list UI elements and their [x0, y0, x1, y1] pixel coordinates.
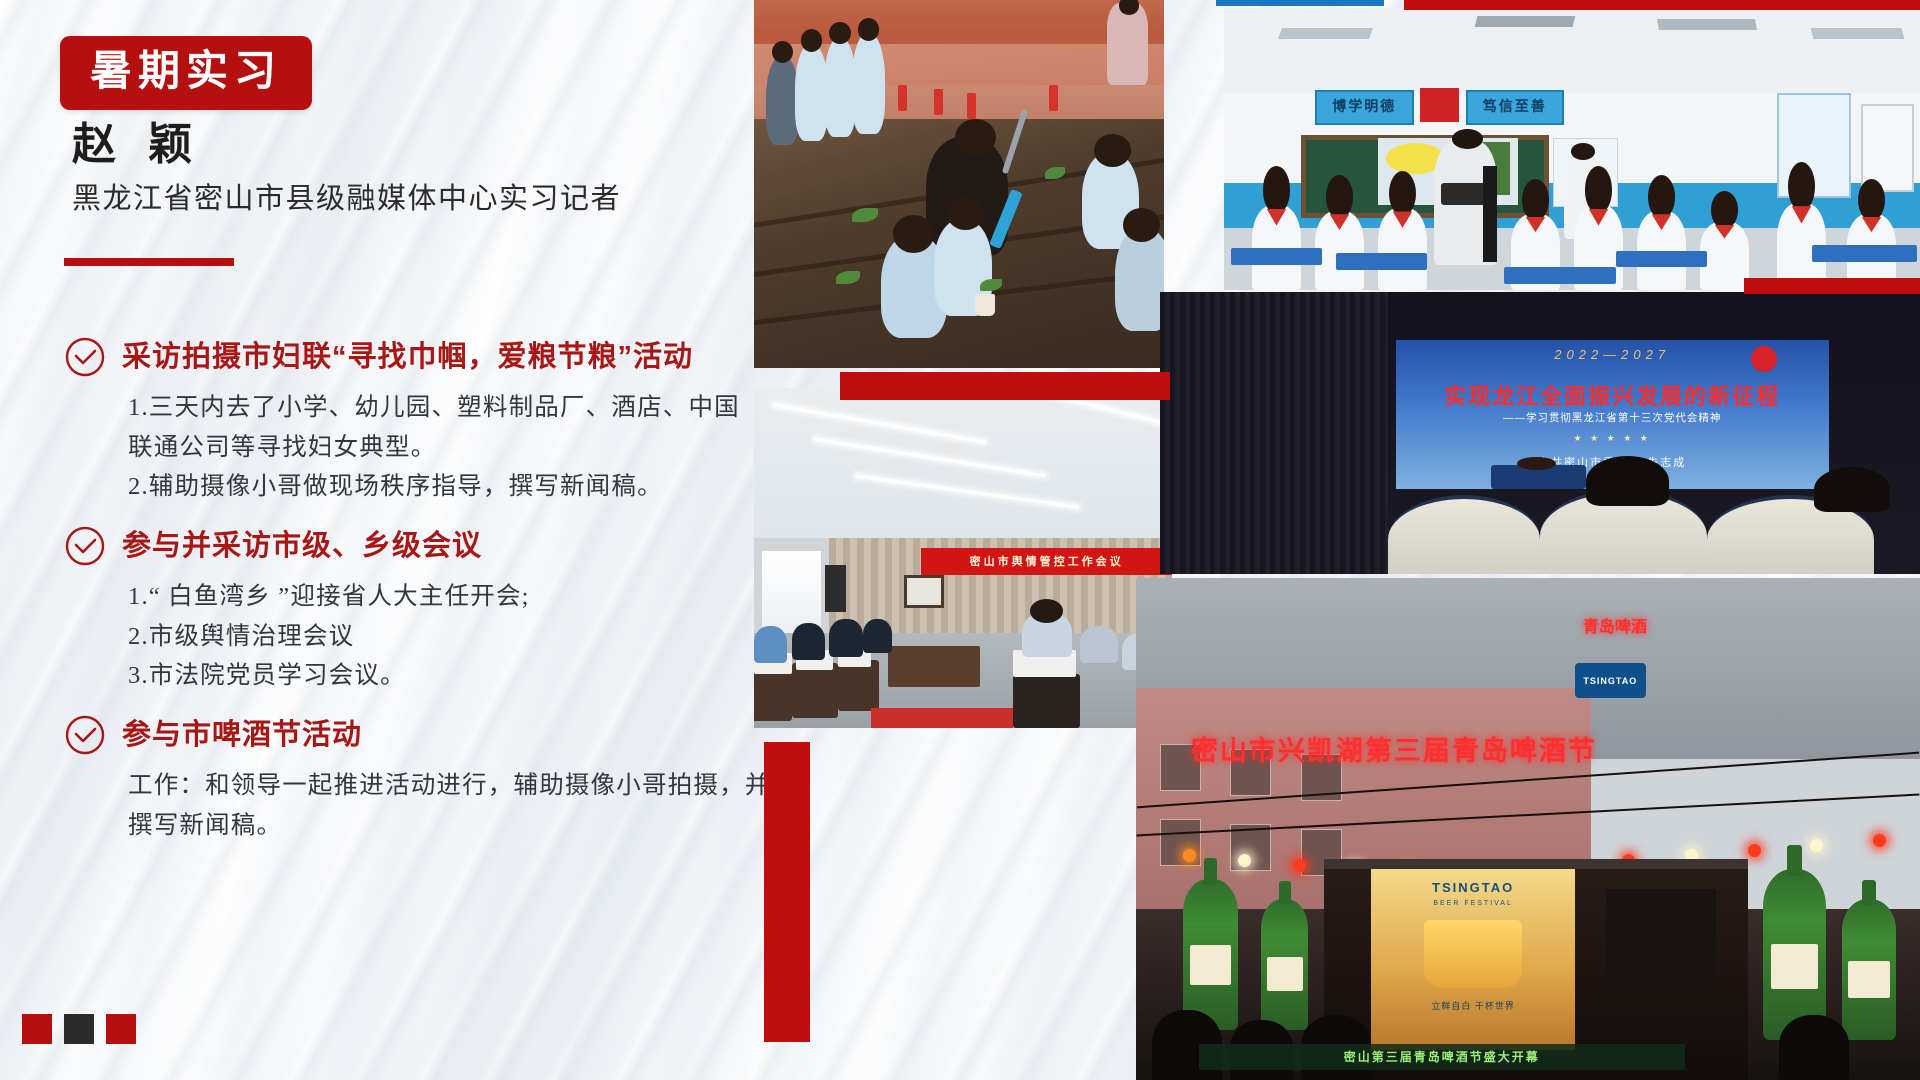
beer-poster-cn: 立鲜自白 干杯世界 [1371, 999, 1575, 1012]
section-title: 采访拍摄市妇联“寻找巾帼，爱粮节粮”活动 [122, 339, 693, 375]
projection-stars: ★ ★ ★ ★ ★ [1396, 433, 1829, 444]
photo-lecture-projection: 2022—2027 实现龙江全面振兴发展的新征程 ——学习贯彻黑龙江省第十三次党… [1160, 292, 1920, 574]
check-circle-icon [64, 525, 106, 567]
body-line: 工作：和领导一起推进活动进行，辅助摄像小哥拍摄，并 [128, 766, 764, 806]
section-item: 参与并采访市级、乡级会议 1.“ 白鱼湾乡 ”迎接省人大主任开会; 2.市级舆情… [64, 525, 764, 696]
section-title: 参与市啤酒节活动 [122, 717, 362, 753]
beer-bottom-banner: 密山第三届青岛啤酒节盛大开幕 [1344, 1048, 1540, 1065]
body-line: 2.辅助摄像小哥做现场秩序指导，撰写新闻稿。 [128, 467, 764, 507]
body-line: 1.三天内去了小学、幼儿园、塑料制品厂、酒店、中国 [128, 388, 764, 428]
beer-neon-main: 密山市兴凯湖第三届青岛啤酒节 [1191, 729, 1597, 768]
accent-bar-blue-top [1216, 0, 1384, 6]
photo-school-planting [754, 0, 1164, 368]
check-circle-icon [64, 714, 106, 756]
slide-canvas: 暑期实习 赵 颖 黑龙江省密山市县级融媒体中心实习记者 采访拍摄市妇联“寻找巾帼… [0, 0, 1920, 1080]
section-body: 1.“ 白鱼湾乡 ”迎接省人大主任开会; 2.市级舆情治理会议 3.市法院党员学… [128, 577, 764, 696]
body-line: 3.市法院党员学习会议。 [128, 656, 764, 696]
section-title: 参与并采访市级、乡级会议 [122, 528, 482, 564]
section-header: 参与市啤酒节活动 [64, 714, 764, 756]
beer-poster-brand: TSINGTAO [1371, 880, 1575, 895]
conference-led-banner: 密山市舆情管控工作会议 [970, 553, 1124, 569]
person-role: 黑龙江省密山市县级融媒体中心实习记者 [72, 182, 621, 217]
beer-poster-sub: BEER FESTIVAL [1371, 900, 1575, 907]
photo-conference-hall: 密山市舆情管控工作会议 [754, 388, 1172, 728]
decor-square-red-2 [106, 1014, 136, 1044]
accent-bar-red-under-planting [840, 372, 1170, 400]
section-header: 参与并采访市级、乡级会议 [64, 525, 764, 567]
classroom-banner-right: 笃信至善 [1468, 92, 1563, 120]
section-body: 1.三天内去了小学、幼儿园、塑料制品厂、酒店、中国 联通公司等寻找妇女典型。 2… [128, 388, 764, 507]
projection-subtitle: ——学习贯彻黑龙江省第十三次党代会精神 [1396, 410, 1829, 425]
section-header: 采访拍摄市妇联“寻找巾帼，爱粮节粮”活动 [64, 336, 764, 378]
section-body: 工作：和领导一起推进活动进行，辅助摄像小哥拍摄，并 撰写新闻稿。 [128, 766, 764, 845]
decor-square-red-1 [22, 1014, 52, 1044]
check-circle-icon [64, 336, 106, 378]
projection-title: 实现龙江全面振兴发展的新征程 [1396, 379, 1829, 411]
photo-beer-festival: TSINGTAO 青岛啤酒 密山市兴凯湖第三届青岛啤酒节 [1136, 578, 1920, 1080]
classroom-banner-left: 博学明德 [1317, 92, 1412, 120]
beer-neon-top: 青岛啤酒 [1583, 613, 1647, 637]
sections-list: 采访拍摄市妇联“寻找巾帼，爱粮节粮”活动 1.三天内去了小学、幼儿园、塑料制品厂… [64, 318, 764, 850]
section-item: 参与市啤酒节活动 工作：和领导一起推进活动进行，辅助摄像小哥拍摄，并 撰写新闻稿… [64, 714, 764, 845]
accent-bar-red-bottom-left [764, 742, 810, 1042]
decor-square-dark [64, 1014, 94, 1044]
section-item: 采访拍摄市妇联“寻找巾帼，爱粮节粮”活动 1.三天内去了小学、幼儿园、塑料制品厂… [64, 336, 764, 507]
accent-bar-red-top [1404, 0, 1920, 10]
left-text-column: 暑期实习 赵 颖 黑龙江省密山市县级融媒体中心实习记者 采访拍摄市妇联“寻找巾帼… [0, 0, 760, 1080]
photo-collage: 博学明德 笃信至善 [744, 0, 1920, 1080]
body-line: 2.市级舆情治理会议 [128, 617, 764, 657]
person-name: 赵 颖 [72, 123, 202, 167]
decor-squares [22, 1014, 136, 1044]
body-line: 1.“ 白鱼湾乡 ”迎接省人大主任开会; [128, 577, 764, 617]
classroom-emblem [1420, 88, 1459, 122]
title-underline-rule [64, 258, 234, 266]
accent-bar-red-mid [1744, 278, 1920, 294]
section-badge: 暑期实习 [60, 36, 312, 110]
photo-classroom-lesson: 博学明德 笃信至善 [1224, 8, 1920, 290]
beer-sign-brand: TSINGTAO [1583, 676, 1637, 686]
body-line: 撰写新闻稿。 [128, 806, 764, 846]
body-line: 联通公司等寻找妇女典型。 [128, 428, 764, 468]
